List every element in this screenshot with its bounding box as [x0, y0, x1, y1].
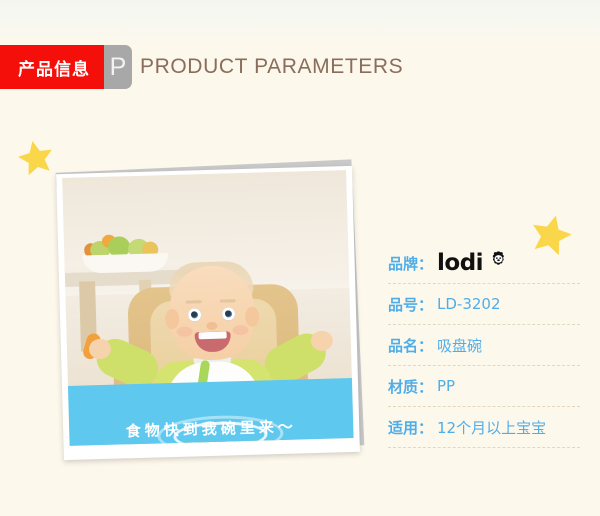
spec-row-brand: 品牌： lodi [388, 243, 580, 284]
header-title-en: PRODUCT PARAMETERS [140, 45, 403, 89]
header-title-cn: 产品信息 [0, 45, 104, 89]
spec-row-model: 品号： LD-3202 [388, 284, 580, 325]
lion-head-icon [488, 250, 509, 276]
section-header: 产品信息 P PRODUCT PARAMETERS [0, 45, 403, 89]
spec-list: 品牌： lodi 品号： LD-3202 品名： 吸盘 [388, 243, 580, 448]
brand-logo: lodi [437, 250, 509, 276]
spec-label-model: 品号： [388, 294, 433, 315]
header-badge-letter: P [104, 45, 132, 89]
product-photo-stack: 食物快到我碗里来～ [58, 158, 358, 458]
spec-row-age: 适用： 12个月以上宝宝 [388, 407, 580, 448]
spec-label-brand: 品牌： [388, 253, 433, 274]
spec-value-model: LD-3202 [437, 295, 501, 313]
brand-logo-text: lodi [437, 250, 483, 276]
spec-value-age: 12个月以上宝宝 [437, 417, 546, 438]
top-gradient-wash [0, 0, 600, 46]
spec-value-name: 吸盘碗 [437, 335, 482, 356]
spec-row-material: 材质： PP [388, 366, 580, 407]
product-parameters-page: 产品信息 P PRODUCT PARAMETERS [0, 0, 600, 516]
spec-value-material: PP [437, 377, 455, 395]
spec-label-material: 材质： [388, 376, 433, 397]
spec-label-age: 适用： [388, 417, 433, 438]
star-icon-left [16, 138, 56, 178]
product-photo: 食物快到我碗里来～ [56, 166, 360, 460]
spec-label-name: 品名： [388, 335, 433, 356]
spec-row-name: 品名： 吸盘碗 [388, 325, 580, 366]
